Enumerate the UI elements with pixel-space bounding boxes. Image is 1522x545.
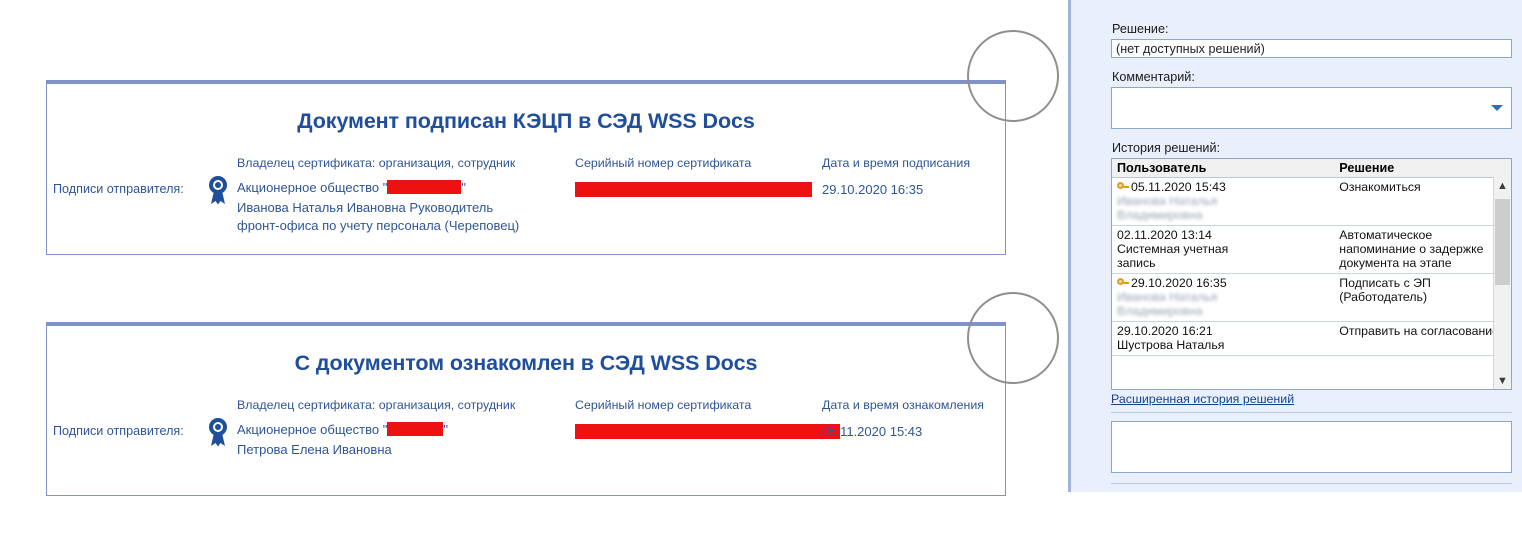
column-header-user[interactable]: Пользователь bbox=[1112, 159, 1334, 178]
cell-decision: Ознакомиться bbox=[1334, 178, 1511, 226]
signature-stamp-block: Документ подписан КЭЦП в СЭД WSS Docs По… bbox=[46, 80, 1006, 255]
annotation-circle-icon bbox=[967, 30, 1059, 122]
owner-person-line-2: фронт-офиса по учету персонала (Черепове… bbox=[237, 218, 519, 233]
stamp-title: С документом ознакомлен в СЭД WSS Docs bbox=[47, 351, 1005, 376]
row-user-name-line-1: Шустрова Наталья bbox=[1117, 338, 1329, 352]
table-row[interactable]: 29.10.2020 16:35 Иванова Наталья Владими… bbox=[1112, 274, 1511, 322]
annotation-circle-icon bbox=[967, 292, 1059, 384]
row-user-name-line-2: Владимировна bbox=[1117, 304, 1329, 318]
signature-stamps-area: Документ подписан КЭЦП в СЭД WSS Docs По… bbox=[0, 0, 1090, 545]
owner-org-suffix: " bbox=[461, 180, 466, 195]
comment-label: Комментарий: bbox=[1112, 70, 1512, 84]
row-user-name-line-2: Владимировна bbox=[1117, 208, 1329, 222]
cell-decision: Отправить на согласование bbox=[1334, 322, 1511, 356]
signing-datetime: 29.10.2020 16:35 bbox=[822, 182, 923, 197]
seal-ribbon-icon bbox=[207, 417, 229, 447]
review-datetime: 05.11.2020 15:43 bbox=[822, 424, 922, 439]
row-datetime: 05.11.2020 15:43 bbox=[1131, 180, 1226, 194]
seal-ribbon-icon bbox=[207, 175, 229, 205]
owner-org-suffix: " bbox=[443, 422, 448, 437]
cell-user: 29.10.2020 16:21 Шустрова Наталья bbox=[1112, 322, 1334, 356]
column-header-decision[interactable]: Решение bbox=[1334, 159, 1511, 178]
column-header-serial: Серийный номер сертификата bbox=[575, 156, 751, 170]
column-header-serial: Серийный номер сертификата bbox=[575, 398, 751, 412]
row-datetime: 02.11.2020 13:14 bbox=[1117, 228, 1212, 242]
signature-stamp-block: С документом ознакомлен в СЭД WSS Docs П… bbox=[46, 322, 1006, 496]
divider bbox=[1111, 412, 1512, 413]
owner-org-prefix: Акционерное общество " bbox=[237, 422, 387, 437]
redaction-bar-serial bbox=[575, 182, 812, 197]
history-scrollbar[interactable]: ▲ ▼ bbox=[1493, 177, 1511, 389]
decision-panel: Решение: (нет доступных решений) Коммент… bbox=[1068, 0, 1522, 492]
cell-user: 29.10.2020 16:35 Иванова Наталья Владими… bbox=[1112, 274, 1334, 322]
cell-decision: Автоматическое напоминание о задержке до… bbox=[1334, 226, 1511, 274]
stamp-details-grid: Подписи отправителя: Владелец сертификат… bbox=[47, 398, 1005, 484]
owner-organization: Акционерное общество "" bbox=[237, 180, 466, 195]
notes-textarea[interactable] bbox=[1111, 421, 1512, 473]
comment-combobox[interactable] bbox=[1111, 87, 1512, 129]
scroll-down-icon[interactable]: ▼ bbox=[1494, 372, 1511, 389]
sender-signatures-label: Подписи отправителя: bbox=[53, 182, 184, 196]
table-header-row: Пользователь Решение bbox=[1112, 159, 1511, 178]
row-user-name-line-2: запись bbox=[1117, 256, 1329, 270]
stamp-details-grid: Подписи отправителя: Владелец сертификат… bbox=[47, 156, 1005, 242]
key-icon bbox=[1117, 181, 1129, 192]
owner-person-line-1: Иванова Наталья Ивановна Руководитель bbox=[237, 200, 493, 215]
owner-org-prefix: Акционерное общество " bbox=[237, 180, 387, 195]
owner-organization: Акционерное общество "" bbox=[237, 422, 448, 437]
decision-label: Решение: bbox=[1112, 22, 1512, 36]
decision-history-table-wrapper: Пользователь Решение 05.11.2020 15:43 Ив… bbox=[1111, 158, 1512, 390]
decision-value-field[interactable]: (нет доступных решений) bbox=[1111, 39, 1512, 58]
divider bbox=[1111, 483, 1512, 484]
row-datetime: 29.10.2020 16:35 bbox=[1131, 276, 1227, 290]
chevron-down-icon[interactable] bbox=[1491, 105, 1503, 111]
table-row[interactable]: 29.10.2020 16:21 Шустрова Наталья Отправ… bbox=[1112, 322, 1511, 356]
scrollbar-thumb[interactable] bbox=[1495, 199, 1510, 285]
row-user-name-line-1: Иванова Наталья bbox=[1117, 290, 1329, 304]
column-header-owner: Владелец сертификата: организация, сотру… bbox=[237, 398, 515, 412]
cell-user: 05.11.2020 15:43 Иванова Наталья Владими… bbox=[1112, 178, 1334, 226]
redaction-bar-org bbox=[387, 422, 443, 436]
sender-signatures-label: Подписи отправителя: bbox=[53, 424, 184, 438]
column-header-date: Дата и время ознакомления bbox=[822, 398, 984, 412]
scroll-up-icon[interactable]: ▲ bbox=[1494, 177, 1511, 194]
cell-user: 02.11.2020 13:14 Системная учетная запис… bbox=[1112, 226, 1334, 274]
stamp-title: Документ подписан КЭЦП в СЭД WSS Docs bbox=[47, 109, 1005, 134]
owner-person-line-1: Петрова Елена Ивановна bbox=[237, 442, 392, 457]
table-row[interactable]: 05.11.2020 15:43 Иванова Наталья Владими… bbox=[1112, 178, 1511, 226]
redaction-bar-serial bbox=[575, 424, 840, 439]
row-datetime: 29.10.2020 16:21 bbox=[1117, 324, 1213, 338]
decision-history-table: Пользователь Решение 05.11.2020 15:43 Ив… bbox=[1112, 159, 1511, 356]
column-header-owner: Владелец сертификата: организация, сотру… bbox=[237, 156, 515, 170]
key-icon bbox=[1117, 277, 1129, 288]
redaction-bar-org bbox=[387, 180, 461, 194]
cell-decision: Подписать с ЭП (Работодатель) bbox=[1334, 274, 1511, 322]
table-row[interactable]: 02.11.2020 13:14 Системная учетная запис… bbox=[1112, 226, 1511, 274]
row-user-name-line-1: Иванова Наталья bbox=[1117, 194, 1329, 208]
extended-history-link[interactable]: Расширенная история решений bbox=[1111, 392, 1294, 406]
column-header-date: Дата и время подписания bbox=[822, 156, 970, 170]
history-label: История решений: bbox=[1112, 141, 1512, 155]
row-user-name-line-1: Системная учетная bbox=[1117, 242, 1329, 256]
